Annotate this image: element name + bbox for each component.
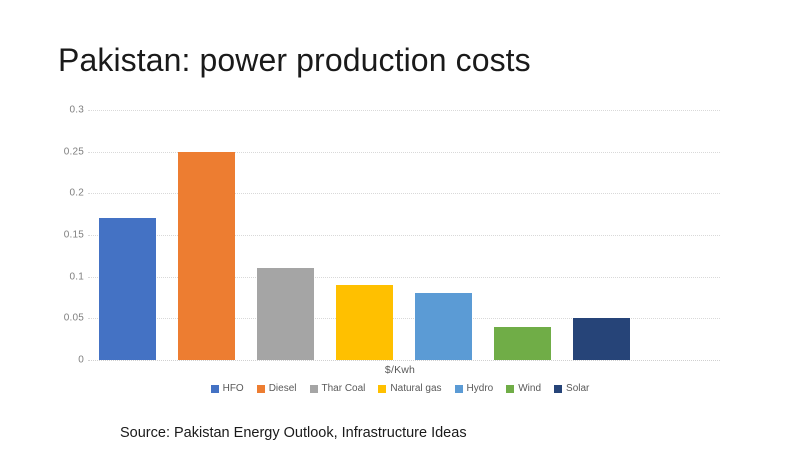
bar-slot-hydro	[404, 110, 483, 360]
page-title: Pakistan: power production costs	[58, 42, 531, 79]
bar-solar[interactable]	[573, 318, 631, 360]
bar-thar-coal[interactable]	[257, 268, 315, 360]
legend-label: Natural gas	[390, 384, 441, 394]
legend-label: Solar	[566, 384, 589, 394]
legend-label: Hydro	[467, 384, 494, 394]
axis-baseline	[88, 360, 720, 361]
legend-swatch-icon	[310, 385, 318, 393]
bar-slot-thar-coal	[246, 110, 325, 360]
bar-chart: 0.30.250.20.150.10.050 $/Kwh HFODieselTh…	[0, 110, 800, 400]
x-axis-title: $/Kwh	[0, 364, 800, 376]
legend-item-thar-coal[interactable]: Thar Coal	[310, 384, 366, 394]
bar-slot-hfo	[88, 110, 167, 360]
legend-label: Wind	[518, 384, 541, 394]
bar-slot-solar	[562, 110, 641, 360]
legend-item-solar[interactable]: Solar	[554, 384, 589, 394]
y-axis-tick-label: 0.3	[69, 105, 84, 116]
legend-item-natural-gas[interactable]: Natural gas	[378, 384, 441, 394]
y-axis-tick-label: 0.15	[64, 230, 84, 241]
legend-item-diesel[interactable]: Diesel	[257, 384, 297, 394]
legend-swatch-icon	[257, 385, 265, 393]
bar-diesel[interactable]	[178, 152, 236, 360]
bar-slot-natural-gas	[325, 110, 404, 360]
legend-swatch-icon	[211, 385, 219, 393]
chart-legend: HFODieselThar CoalNatural gasHydroWindSo…	[0, 384, 800, 394]
bar-hydro[interactable]	[415, 293, 473, 360]
legend-label: HFO	[223, 384, 244, 394]
plot-area	[88, 110, 720, 360]
legend-label: Diesel	[269, 384, 297, 394]
y-axis-tick-label: 0.2	[69, 188, 84, 199]
bar-slot-empty	[641, 110, 720, 360]
bar-wind[interactable]	[494, 327, 552, 360]
legend-swatch-icon	[378, 385, 386, 393]
y-axis-tick-label: 0.25	[64, 146, 84, 157]
legend-item-wind[interactable]: Wind	[506, 384, 541, 394]
bar-slot-wind	[483, 110, 562, 360]
legend-item-hydro[interactable]: Hydro	[455, 384, 494, 394]
bar-natural-gas[interactable]	[336, 285, 394, 360]
slide-canvas: Pakistan: power production costs 0.30.25…	[0, 0, 800, 450]
y-axis-tick-label: 0.05	[64, 313, 84, 324]
legend-item-hfo[interactable]: HFO	[211, 384, 244, 394]
legend-swatch-icon	[506, 385, 514, 393]
y-axis: 0.30.250.20.150.10.050	[40, 110, 84, 355]
legend-swatch-icon	[554, 385, 562, 393]
bar-hfo[interactable]	[99, 218, 157, 360]
source-note: Source: Pakistan Energy Outlook, Infrast…	[120, 425, 467, 441]
y-axis-tick-label: 0.1	[69, 271, 84, 282]
legend-label: Thar Coal	[322, 384, 366, 394]
bar-slot-diesel	[167, 110, 246, 360]
legend-swatch-icon	[455, 385, 463, 393]
bars-group	[88, 110, 720, 360]
